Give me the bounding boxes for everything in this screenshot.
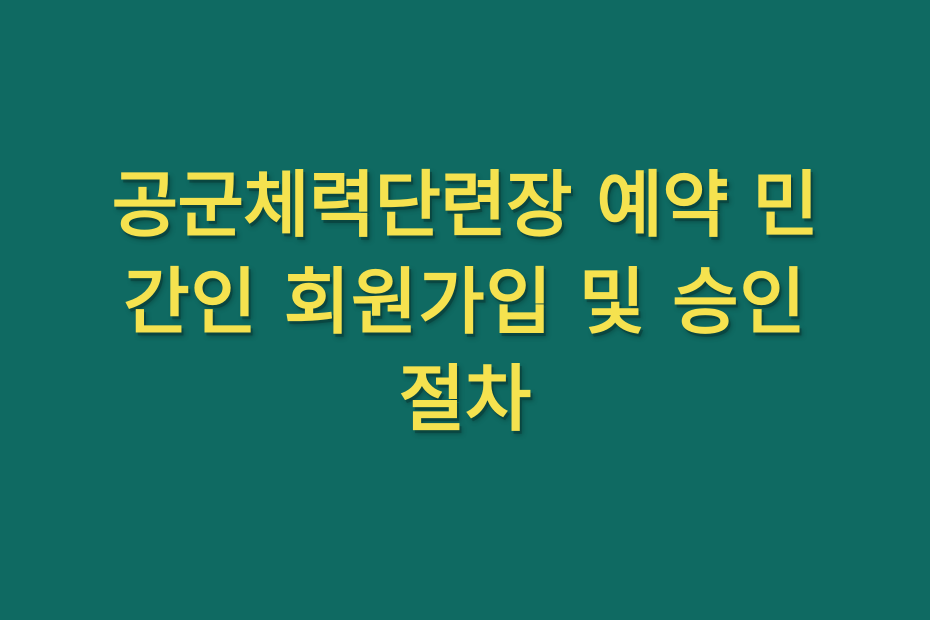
- title-card: 공군체력단련장 예약 민 간인 회원가입 및 승인 절차: [0, 0, 930, 620]
- headline-block: 공군체력단련장 예약 민 간인 회원가입 및 승인 절차: [70, 157, 860, 448]
- headline-line-3: 절차: [70, 351, 860, 448]
- headline-line-1: 공군체력단련장 예약 민: [70, 157, 860, 254]
- headline-line-2: 간인 회원가입 및 승인: [70, 254, 860, 351]
